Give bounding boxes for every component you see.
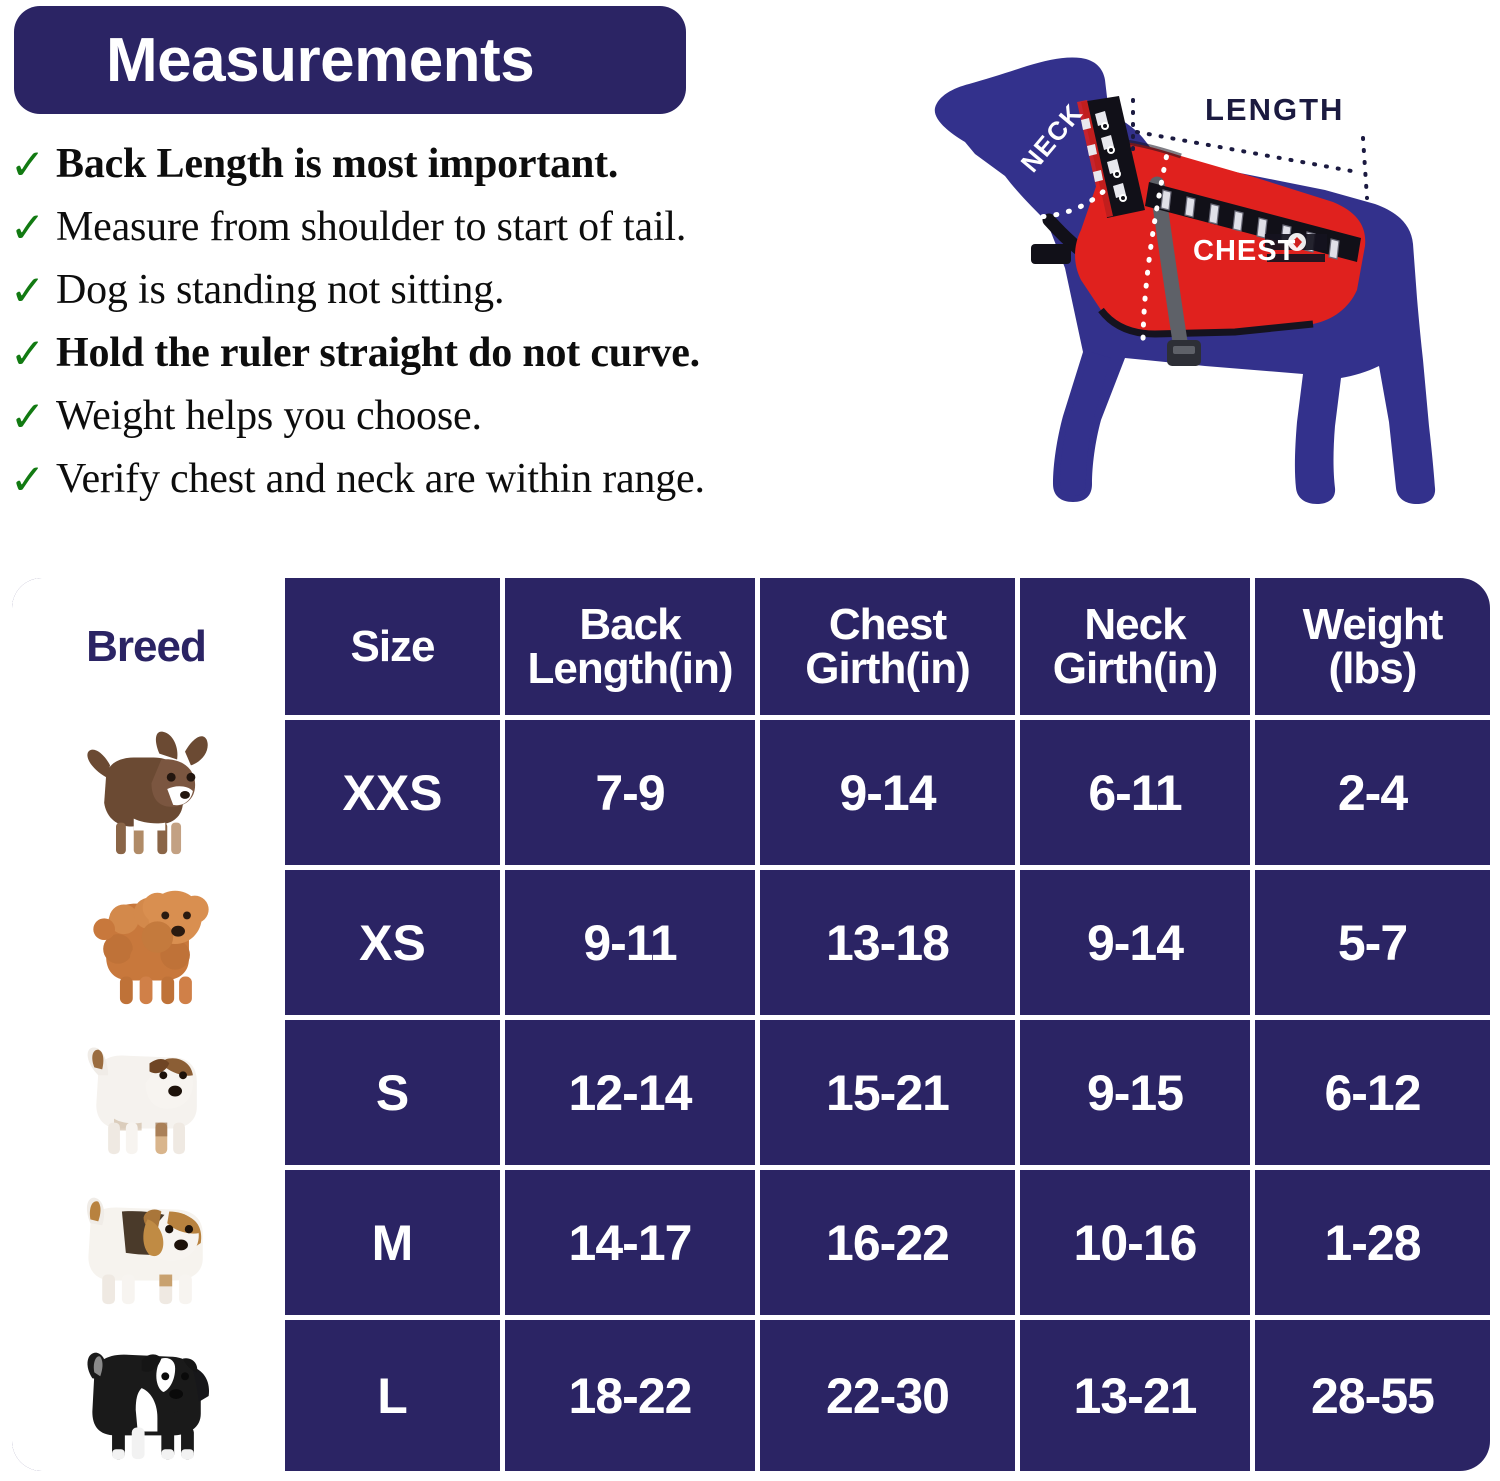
table-header-chest-girth-line1: Chest: [805, 603, 970, 647]
table-header-back-length: Back Length(in): [505, 578, 760, 720]
table-header-back-length-line1: Back: [527, 603, 732, 647]
table-cell-neck-girth: 9-14: [1020, 870, 1255, 1020]
check-icon: ✓: [10, 459, 56, 501]
table-row: [12, 1320, 285, 1471]
tip-item: ✓ Hold the ruler straight do not curve.: [10, 329, 940, 392]
table-header-chest-girth-line2: Girth(in): [805, 647, 970, 691]
beagle-illustration: [87, 1197, 203, 1303]
table-cell-weight: 2-4: [1255, 720, 1490, 870]
table-cell-size: M: [285, 1170, 505, 1320]
check-icon: ✓: [10, 207, 56, 249]
tip-item: ✓ Weight helps you choose.: [10, 392, 940, 455]
tip-label: Hold the ruler straight do not curve.: [56, 329, 700, 377]
chihuahua-illustration: [88, 731, 208, 853]
table-row: [12, 720, 285, 870]
table-cell-back-length: 18-22: [505, 1320, 760, 1471]
diagram-label-chest: CHEST: [1193, 235, 1296, 267]
table-header-neck-girth-line1: Neck: [1053, 603, 1218, 647]
size-chart-page: Measurements ✓ Back Length is most impor…: [0, 0, 1500, 1481]
tip-item: ✓ Verify chest and neck are within range…: [10, 455, 940, 518]
table-cell-size: XXS: [285, 720, 505, 870]
measurement-tips-list: ✓ Back Length is most important. ✓ Measu…: [10, 140, 940, 518]
table-row: [12, 1020, 285, 1170]
tip-item: ✓ Back Length is most important.: [10, 140, 940, 203]
table-cell-size: L: [285, 1320, 505, 1471]
border-collie-illustration: [88, 1352, 210, 1458]
diagram-label-length: LENGTH: [1205, 92, 1344, 127]
table-cell-chest-girth: 22-30: [760, 1320, 1020, 1471]
border-collie-photo: [12, 1327, 280, 1465]
table-header-chest-girth: Chest Girth(in): [760, 578, 1020, 720]
table-header-weight: Weight (lbs): [1255, 578, 1490, 720]
table-cell-weight: 5-7: [1255, 870, 1490, 1020]
page-title: Measurements: [14, 25, 534, 96]
table-cell-weight: 28-55: [1255, 1320, 1490, 1471]
check-icon: ✓: [10, 144, 56, 186]
chihuahua-photo: [12, 724, 280, 862]
table-header-size-label: Size: [350, 625, 434, 669]
jack-russell-illustration: [88, 1047, 197, 1154]
tip-item: ✓ Measure from shoulder to start of tail…: [10, 203, 940, 266]
table-cell-weight: 6-12: [1255, 1020, 1490, 1170]
table-header-breed: Breed: [12, 578, 285, 720]
check-icon: ✓: [10, 396, 56, 438]
table-cell-back-length: 12-14: [505, 1020, 760, 1170]
table-cell-neck-girth: 10-16: [1020, 1170, 1255, 1320]
table-cell-neck-girth: 6-11: [1020, 720, 1255, 870]
table-header-breed-label: Breed: [86, 625, 206, 669]
table-header-neck-girth: Neck Girth(in): [1020, 578, 1255, 720]
tip-label: Dog is standing not sitting.: [56, 266, 504, 314]
table-cell-size: XS: [285, 870, 505, 1020]
toy-poodle-photo: [12, 874, 280, 1012]
tip-label: Verify chest and neck are within range.: [56, 455, 705, 503]
size-chart-table: Breed Size Back Length(in) Chest Girth(i…: [12, 578, 1490, 1471]
beagle-photo: [12, 1174, 280, 1312]
table-row: [12, 870, 285, 1020]
table-cell-chest-girth: 15-21: [760, 1020, 1020, 1170]
jack-russell-photo: [12, 1024, 280, 1162]
tip-label: Weight helps you choose.: [56, 392, 482, 440]
table-header-weight-line1: Weight: [1303, 603, 1443, 647]
tip-label: Measure from shoulder to start of tail.: [56, 203, 686, 251]
tip-item: ✓ Dog is standing not sitting.: [10, 266, 940, 329]
check-icon: ✓: [10, 333, 56, 375]
table-cell-size: S: [285, 1020, 505, 1170]
table-row: [12, 1170, 285, 1320]
table-header-weight-line2: (lbs): [1303, 647, 1443, 691]
table-cell-neck-girth: 9-15: [1020, 1020, 1255, 1170]
table-cell-chest-girth: 9-14: [760, 720, 1020, 870]
page-title-badge: Measurements: [14, 6, 686, 114]
table-cell-back-length: 14-17: [505, 1170, 760, 1320]
table-cell-back-length: 9-11: [505, 870, 760, 1020]
table-cell-chest-girth: 13-18: [760, 870, 1020, 1020]
table-cell-neck-girth: 13-21: [1020, 1320, 1255, 1471]
table-header-back-length-line2: Length(in): [527, 647, 732, 691]
check-icon: ✓: [10, 270, 56, 312]
dog-measurement-diagram: LENGTH NECK CHEST: [905, 22, 1495, 522]
table-header-size: Size: [285, 578, 505, 720]
table-cell-chest-girth: 16-22: [760, 1170, 1020, 1320]
table-header-neck-girth-line2: Girth(in): [1053, 647, 1218, 691]
table-cell-weight: 1-28: [1255, 1170, 1490, 1320]
tip-label: Back Length is most important.: [56, 140, 618, 188]
table-cell-back-length: 7-9: [505, 720, 760, 870]
toy-poodle-illustration: [94, 890, 209, 1003]
